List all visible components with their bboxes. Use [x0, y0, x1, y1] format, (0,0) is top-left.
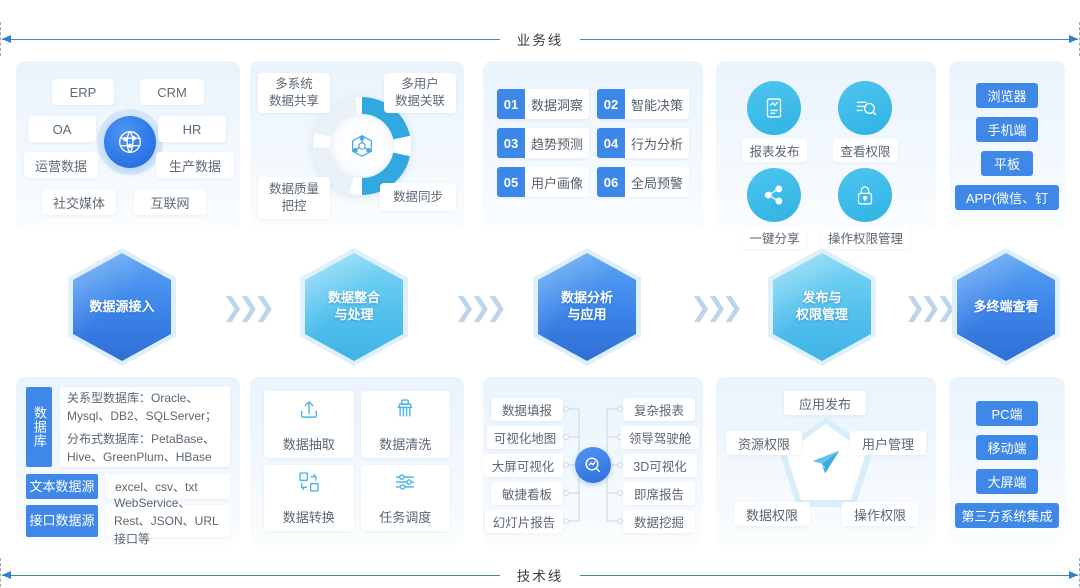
- etl-label-transform: 数据转换: [283, 507, 335, 526]
- db-value-database: 关系型数据库：Oracle、Mysql、DB2、SQLServer； 分布式数据…: [60, 387, 230, 467]
- etl-item-schedule[interactable]: 任务调度: [361, 465, 451, 532]
- db-key-database: 数据库: [26, 387, 52, 467]
- stage-flow: 数据源接入 ❯❯❯ 数据整合 与处理 ❯❯❯ 数据分析 与应用 ❯❯❯ 发布与 …: [0, 248, 1080, 366]
- report-publish-icon: [747, 81, 801, 135]
- analysis-label-01: 数据洞察: [525, 89, 589, 119]
- panel-clients: PC端 移动端 大屏端 第三方系统集成: [949, 377, 1065, 545]
- perm-node-data[interactable]: 数据权限: [734, 502, 810, 526]
- analysis-badge-01: 01: [497, 89, 525, 119]
- client-tag-thirdparty[interactable]: 第三方系统集成: [955, 503, 1059, 528]
- transform-icon: [296, 469, 322, 500]
- app-node-agile[interactable]: 敏捷看板: [491, 482, 563, 505]
- publish-item-share[interactable]: 一键分享: [742, 168, 807, 249]
- rail-line-right-bottom: [580, 575, 1078, 576]
- source-chip-erp[interactable]: ERP: [52, 79, 114, 105]
- source-chip-ops[interactable]: 运营数据: [24, 152, 98, 178]
- analysis-badge-03: 03: [497, 128, 525, 158]
- terminal-tag-app[interactable]: APP(微信、钉: [955, 185, 1059, 210]
- db-value-api: WebService、Rest、JSON、URL接口等: [106, 505, 230, 537]
- stage-hex-1[interactable]: 数据源接入: [68, 248, 176, 366]
- analysis-item-06[interactable]: 06 全局预警: [597, 167, 689, 197]
- upload-icon: [296, 396, 322, 427]
- app-node-map[interactable]: 可视化地图: [487, 426, 563, 449]
- analysis-item-01[interactable]: 01 数据洞察: [497, 89, 589, 119]
- integration-label-share: 多系统 数据共享: [258, 73, 330, 113]
- etl-label-schedule: 任务调度: [379, 507, 431, 526]
- panel-permission: 应用发布 资源权限 用户管理 数据权限 操作权限: [716, 377, 936, 545]
- rail-line-left-bottom: [2, 575, 500, 576]
- app-node-ppt[interactable]: 幻灯片报告: [485, 510, 563, 533]
- etl-label-clean: 数据清洗: [379, 434, 431, 453]
- app-node-adhoc[interactable]: 即席报告: [623, 482, 695, 505]
- publish-label-share: 一键分享: [742, 226, 806, 249]
- integration-label-quality: 数据质量 把控: [258, 177, 330, 219]
- analysis-label-04: 行为分析: [625, 128, 689, 158]
- analysis-label-05: 用户画像: [525, 167, 589, 197]
- app-node-cockpit[interactable]: 领导驾驶舱: [621, 426, 699, 449]
- panel-integration: 多系统 数据共享 多用户 数据关联 数据质量 把控 数据同步: [250, 61, 464, 231]
- analysis-item-05[interactable]: 05 用户画像: [497, 167, 589, 197]
- client-tag-mobile[interactable]: 移动端: [976, 435, 1038, 460]
- analysis-badge-04: 04: [597, 128, 625, 158]
- rail-line-left: [2, 39, 500, 40]
- stage-label-5: 多终端查看: [952, 248, 1060, 366]
- db-key-text: 文本数据源: [26, 474, 98, 499]
- terminal-tag-mobile[interactable]: 手机端: [976, 117, 1038, 142]
- panel-data-sources: ERP CRM OA HR 运营数据 生产数据 社交媒体 互联网: [16, 61, 240, 231]
- source-chip-oa[interactable]: OA: [28, 116, 96, 142]
- etl-item-transform[interactable]: 数据转换: [264, 465, 354, 532]
- stage-hex-3[interactable]: 数据分析 与应用: [533, 248, 641, 366]
- share-icon: [747, 168, 801, 222]
- analysis-label-03: 趋势预测: [525, 128, 589, 158]
- rail-line-right: [580, 39, 1078, 40]
- arrow-right-icon: [1069, 35, 1078, 43]
- panel-database: 数据库 关系型数据库：Oracle、Mysql、DB2、SQLServer； 分…: [16, 377, 240, 545]
- perm-node-resource[interactable]: 资源权限: [726, 431, 802, 455]
- integration-label-relate: 多用户 数据关联: [384, 73, 456, 113]
- source-chip-crm[interactable]: CRM: [140, 79, 204, 105]
- stage-hex-5[interactable]: 多终端查看: [952, 248, 1060, 366]
- publish-label-report: 报表发布: [742, 139, 806, 162]
- source-chip-prod[interactable]: 生产数据: [156, 152, 234, 178]
- stage-chevron-2: ❯❯❯: [454, 292, 501, 323]
- db-value-relational: 关系型数据库：Oracle、Mysql、DB2、SQLServer；: [67, 389, 223, 425]
- client-tag-bigscreen[interactable]: 大屏端: [976, 469, 1038, 494]
- integration-label-sync: 数据同步: [380, 183, 456, 211]
- analysis-badge-05: 05: [497, 167, 525, 197]
- db-row-relational: 数据库 关系型数据库：Oracle、Mysql、DB2、SQLServer； 分…: [26, 387, 230, 467]
- client-tag-pc[interactable]: PC端: [976, 401, 1038, 426]
- analysis-item-02[interactable]: 02 智能决策: [597, 89, 689, 119]
- view-permission-icon: [838, 81, 892, 135]
- publish-item-report[interactable]: 报表发布: [742, 81, 807, 162]
- analytics-search-icon: [575, 447, 611, 483]
- db-key-api: 接口数据源: [26, 505, 98, 537]
- terminal-tag-browser[interactable]: 浏览器: [976, 83, 1038, 108]
- technology-line-label: 技术线: [501, 565, 580, 585]
- analysis-label-06: 全局预警: [625, 167, 689, 197]
- publish-item-oplock[interactable]: 操作权限管理: [821, 168, 910, 249]
- rail-dash-left: [0, 22, 1, 56]
- analysis-item-04[interactable]: 04 行为分析: [597, 128, 689, 158]
- db-value-distributed: 分布式数据库：PetaBase、Hive、GreenPlum、HBase: [67, 430, 223, 466]
- panel-applications: 数据填报 可视化地图 大屏可视化 敏捷看板 幻灯片报告 复杂报表 领导驾驶舱 3…: [483, 377, 703, 545]
- rail-dash-left-bottom: [0, 558, 1, 588]
- panel-publish: 报表发布 查看权限: [716, 61, 936, 231]
- arrow-left-icon: [2, 35, 11, 43]
- app-node-3d[interactable]: 3D可视化: [623, 454, 697, 477]
- terminal-tag-tablet[interactable]: 平板: [981, 151, 1033, 176]
- stage-hex-2[interactable]: 数据整合 与处理: [300, 248, 408, 366]
- analysis-label-02: 智能决策: [625, 89, 689, 119]
- stage-label-4: 发布与 权限管理: [768, 248, 876, 366]
- panel-analysis: 01 数据洞察 02 智能决策 03 趋势预测 04 行为分析 05 用户画像 …: [483, 61, 703, 231]
- stage-chevron-4: ❯❯❯: [904, 292, 951, 323]
- infographic-root: 业务线 ERP CRM OA HR 运营数据 生产数: [0, 0, 1080, 588]
- stage-hex-4[interactable]: 发布与 权限管理: [768, 248, 876, 366]
- publish-label-oplock: 操作权限管理: [821, 226, 910, 249]
- source-chip-hr[interactable]: HR: [158, 116, 226, 142]
- app-node-complex[interactable]: 复杂报表: [623, 398, 695, 421]
- etl-label-extract: 数据抽取: [283, 434, 335, 453]
- stage-chevron-1: ❯❯❯: [222, 292, 269, 323]
- stage-label-2: 数据整合 与处理: [300, 248, 408, 366]
- etl-item-clean[interactable]: 数据清洗: [361, 391, 451, 458]
- panel-etl: 数据抽取 数据清洗: [250, 377, 464, 545]
- arrow-left-icon-bottom: [2, 571, 11, 579]
- scheduler-icon: [392, 469, 418, 500]
- source-chip-social[interactable]: 社交媒体: [42, 189, 116, 215]
- arrow-right-icon-bottom: [1069, 571, 1078, 579]
- perm-node-operation[interactable]: 操作权限: [842, 502, 918, 526]
- source-chip-internet[interactable]: 互联网: [134, 189, 206, 215]
- perm-node-user[interactable]: 用户管理: [850, 431, 926, 455]
- etl-item-extract[interactable]: 数据抽取: [264, 391, 354, 458]
- db-row-api: 接口数据源 WebService、Rest、JSON、URL接口等: [26, 505, 230, 537]
- panel-terminals: 浏览器 手机端 平板 APP(微信、钉: [949, 61, 1065, 231]
- analysis-badge-02: 02: [597, 89, 625, 119]
- analysis-item-03[interactable]: 03 趋势预测: [497, 128, 589, 158]
- app-node-bigscreen[interactable]: 大屏可视化: [483, 454, 563, 477]
- business-line-rail: 业务线: [0, 22, 1080, 56]
- perm-node-app-publish[interactable]: 应用发布: [784, 391, 866, 415]
- business-line-label: 业务线: [501, 29, 580, 49]
- lock-icon: [838, 168, 892, 222]
- globe-network-icon: [104, 116, 156, 168]
- stage-label-1: 数据源接入: [68, 248, 176, 366]
- app-node-mining[interactable]: 数据挖掘: [623, 510, 695, 533]
- molecule-icon: [338, 122, 386, 170]
- stage-chevron-3: ❯❯❯: [690, 292, 737, 323]
- publish-item-view[interactable]: 查看权限: [821, 81, 910, 162]
- app-node-fill[interactable]: 数据填报: [491, 398, 563, 421]
- stage-label-3: 数据分析 与应用: [533, 248, 641, 366]
- analysis-badge-06: 06: [597, 167, 625, 197]
- technology-line-rail: 技术线: [0, 558, 1080, 588]
- clean-brush-icon: [392, 396, 418, 427]
- publish-label-view: 查看权限: [833, 139, 897, 162]
